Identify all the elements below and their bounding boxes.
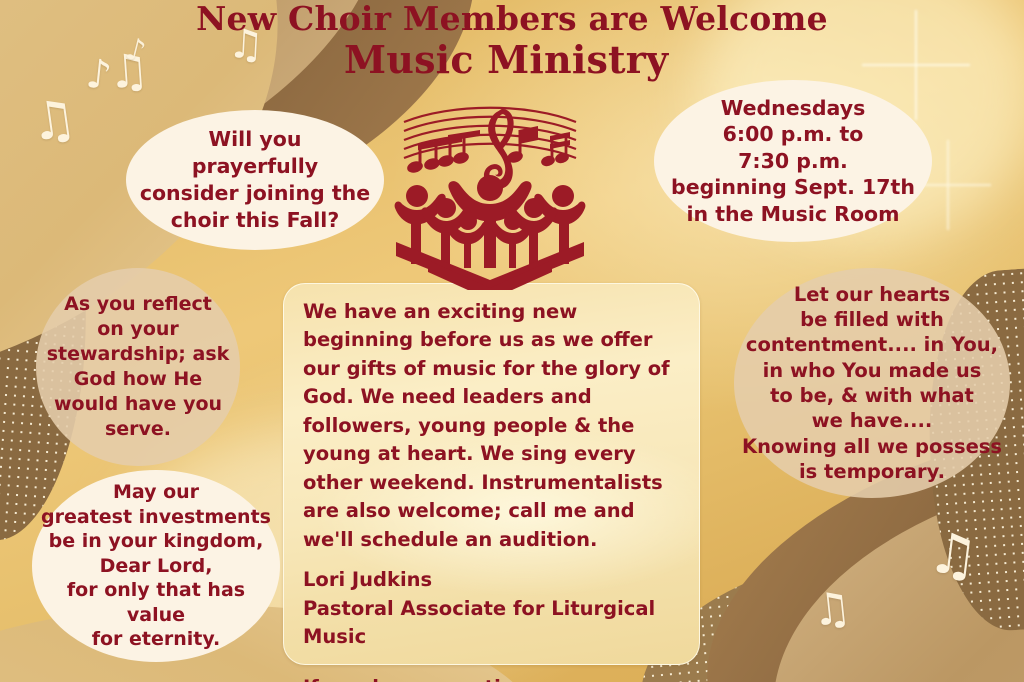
page-title: New Choir Members are Welcome Music Mini… [0,2,1024,79]
choir-flyer: ♫ ♪ ♫ ♪ ♫ ♫ ♫ New Choir Members are Welc… [0,0,1024,682]
main-message-box: We have an exciting new beginning before… [283,283,700,665]
oval-hearts-text: Let our hearts be filled with contentmen… [736,282,1008,485]
oval-question: Will you prayerfully consider joining th… [126,110,384,250]
message-signature-name: Lori Judkins [303,566,682,594]
title-line-welcome: New Choir Members are Welcome [0,2,1024,36]
oval-investments: May our greatest investments be in your … [32,470,280,662]
oval-hearts: Let our hearts be filled with contentmen… [734,268,1010,498]
oval-reflect: As you reflect on your stewardship; ask … [36,268,240,466]
oval-schedule-text: Wednesdays 6:00 p.m. to 7:30 p.m. beginn… [665,95,921,227]
music-note-top-left-a: ♫ [27,92,80,150]
title-line-ministry: Music Ministry [0,41,1024,80]
oval-schedule: Wednesdays 6:00 p.m. to 7:30 p.m. beginn… [654,80,932,242]
message-body: We have an exciting new beginning before… [303,298,682,554]
oval-reflect-text: As you reflect on your stewardship; ask … [41,292,236,441]
oval-investments-text: May our greatest investments be in your … [32,480,280,652]
message-contact: If you have questions or concerns, pleas… [303,674,682,682]
message-signature-title: Pastoral Associate for Liturgical Music [303,595,682,652]
oval-question-text: Will you prayerfully consider joining th… [134,126,376,235]
choir-singers-with-musical-staff-logo [392,100,588,290]
